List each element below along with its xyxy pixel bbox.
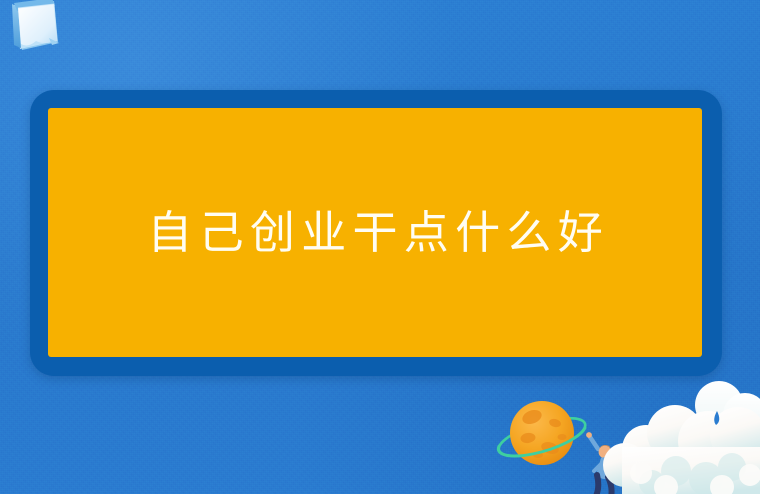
title-card-frame: 自己创业干点什么好 <box>30 90 722 376</box>
page-title: 自己创业干点什么好 <box>141 210 609 255</box>
screenshot-root: 自己创业干点什么好 <box>0 0 760 494</box>
notebook-icon <box>2 0 68 60</box>
title-card-panel: 自己创业干点什么好 <box>48 108 702 357</box>
